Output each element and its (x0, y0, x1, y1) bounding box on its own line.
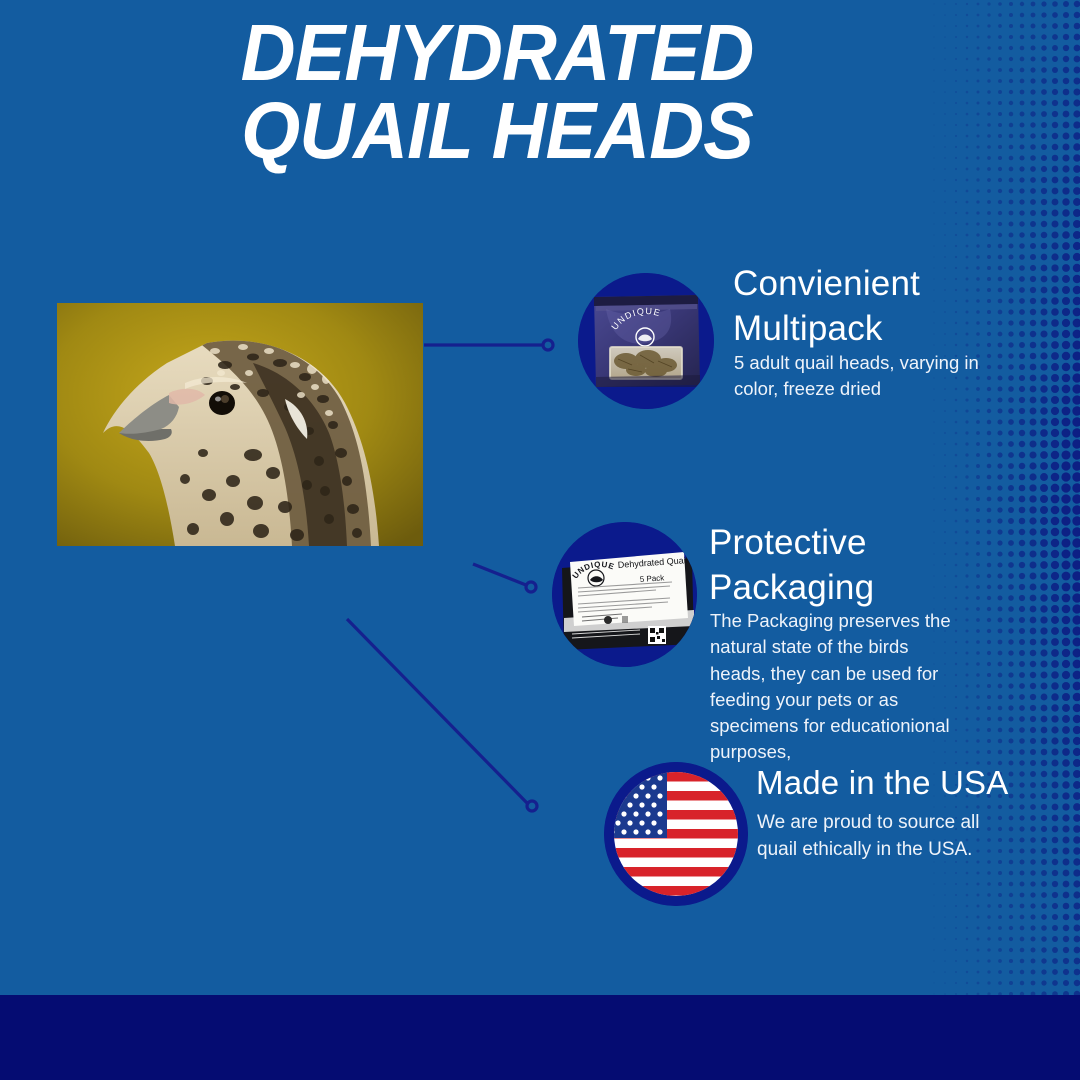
product-label-photo: UNDIQUE Dehydrated Quail 5 Pack (552, 522, 697, 667)
usa-flag-icon (604, 762, 748, 906)
connector-dot-2 (526, 582, 536, 592)
feature-heading: Protective Packaging (709, 521, 1009, 611)
feature-heading-line2: Multipack (733, 309, 883, 348)
feature-body: The Packaging preserves the natural stat… (710, 608, 962, 766)
connector-dot-3 (527, 801, 537, 811)
product-pouch-photo: UNDIQUE (578, 273, 714, 409)
infographic-canvas: DEHYDRATED QUAIL HEADS (0, 0, 1080, 1080)
feature-heading: Made in the USA (756, 762, 1056, 804)
title-line-2: QUAIL HEADS (136, 92, 858, 170)
quail-illustration (57, 303, 423, 546)
quail-hero-photo (57, 303, 423, 546)
feature-heading-line1: Convienient (733, 264, 920, 303)
pouch-illustration: UNDIQUE (578, 273, 714, 409)
label-illustration: UNDIQUE Dehydrated Quail 5 Pack (552, 522, 697, 667)
title-line-1: DEHYDRATED (136, 14, 858, 92)
page-title: DEHYDRATED QUAIL HEADS (136, 14, 858, 169)
feature-body: 5 adult quail heads, varying in color, f… (734, 350, 979, 403)
bottom-accent-bar (0, 995, 1080, 1080)
connector-line-2 (473, 564, 526, 585)
feature-heading: Convienient Multipack (733, 262, 1033, 352)
feature-heading-line1: Protective (709, 523, 867, 562)
connector-line-3 (347, 619, 527, 803)
feature-heading-line2: Packaging (709, 568, 874, 607)
feature-body: We are proud to source all quail ethical… (757, 810, 1007, 864)
flag-illustration (604, 762, 748, 906)
connector-dot-1 (543, 340, 553, 350)
